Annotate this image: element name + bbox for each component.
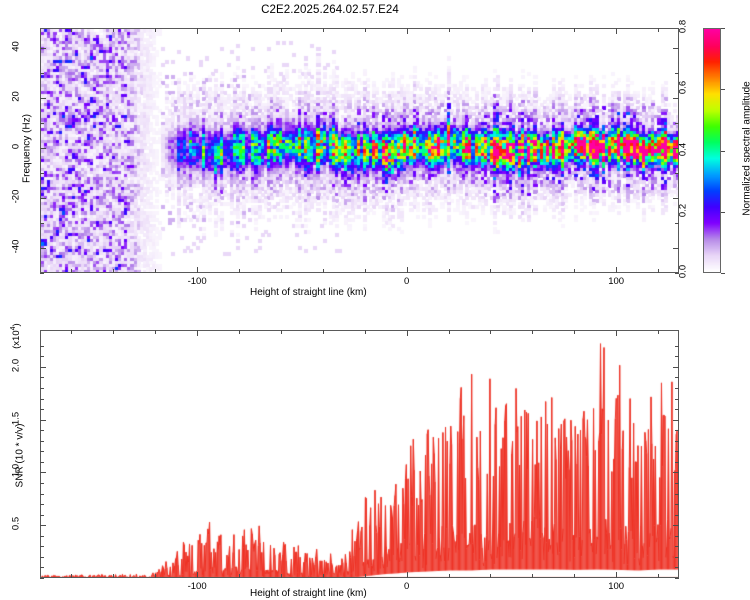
spectrogram-canvas — [41, 29, 679, 273]
axis-tick — [658, 574, 659, 578]
axis-tick — [40, 367, 46, 368]
axis-tick — [155, 269, 156, 273]
axis-tick — [281, 574, 282, 578]
spectrogram-ytick--20: -20 — [11, 177, 22, 217]
axis-tick — [323, 28, 324, 32]
axis-tick — [673, 48, 679, 49]
axis-tick — [71, 28, 72, 32]
axis-tick — [407, 330, 408, 336]
axis-tick — [532, 574, 533, 578]
axis-tick — [673, 420, 679, 421]
colorbar-tick-0.0: 0.0 — [678, 252, 689, 292]
axis-tick — [40, 451, 44, 452]
axis-tick — [675, 346, 679, 347]
snr-xaxis-label: Height of straight line (km) — [250, 588, 367, 599]
axis-tick — [40, 48, 46, 49]
axis-tick — [40, 409, 44, 410]
axis-tick — [113, 574, 114, 578]
axis-tick — [40, 483, 44, 484]
axis-tick — [323, 330, 324, 334]
axis-tick — [40, 148, 46, 149]
axis-tick — [490, 574, 491, 578]
axis-tick — [40, 494, 44, 495]
snr-xtick-0: 0 — [387, 581, 427, 592]
axis-tick — [40, 377, 44, 378]
axis-tick — [574, 28, 575, 32]
axis-tick — [675, 399, 679, 400]
axis-tick — [40, 98, 46, 99]
axis-tick — [40, 430, 44, 431]
spectrogram-xtick-0: 0 — [387, 276, 427, 287]
axis-tick — [407, 28, 408, 34]
axis-tick — [365, 269, 366, 273]
axis-tick — [673, 472, 679, 473]
snr-xtick--100: -100 — [177, 581, 217, 592]
axis-tick — [675, 462, 679, 463]
axis-tick — [675, 173, 679, 174]
colorbar-strip — [703, 28, 721, 273]
colorbar-tick — [721, 151, 725, 152]
spectrogram-ytick--40: -40 — [11, 227, 22, 267]
axis-tick — [113, 330, 114, 334]
axis-tick — [675, 123, 679, 124]
axis-tick — [675, 504, 679, 505]
figure-title: C2E2.2025.264.02.57.E24 — [0, 4, 660, 16]
colorbar-tick — [721, 89, 725, 90]
axis-tick — [197, 330, 198, 336]
axis-tick — [449, 330, 450, 334]
axis-tick — [197, 572, 198, 578]
axis-tick — [40, 578, 44, 579]
axis-tick — [40, 356, 44, 357]
axis-tick — [40, 346, 44, 347]
axis-tick — [239, 330, 240, 334]
axis-tick — [281, 28, 282, 32]
axis-tick — [658, 28, 659, 32]
axis-tick — [40, 441, 44, 442]
axis-tick — [658, 269, 659, 273]
axis-tick — [197, 28, 198, 34]
axis-tick — [675, 451, 679, 452]
axis-tick — [365, 28, 366, 32]
spectrogram-plot-area — [40, 28, 679, 273]
colorbar-tick-0.2: 0.2 — [678, 190, 689, 230]
axis-tick — [40, 223, 44, 224]
axis-tick — [239, 28, 240, 32]
axis-tick — [71, 330, 72, 334]
axis-tick — [675, 356, 679, 357]
axis-tick — [675, 430, 679, 431]
axis-tick — [616, 28, 617, 34]
figure-root: C2E2.2025.264.02.57.E24 -100010040200-20… — [0, 0, 750, 600]
axis-tick — [40, 525, 46, 526]
axis-tick — [40, 273, 44, 274]
axis-tick — [675, 536, 679, 537]
colorbar-tick-0.8: 0.8 — [678, 7, 689, 47]
axis-tick — [40, 73, 44, 74]
axis-tick — [673, 525, 679, 526]
axis-tick — [449, 574, 450, 578]
axis-tick — [365, 330, 366, 334]
axis-tick — [673, 248, 679, 249]
axis-tick — [40, 557, 44, 558]
snr-canvas — [41, 331, 679, 578]
axis-tick — [616, 572, 617, 578]
axis-tick — [197, 267, 198, 273]
axis-tick — [616, 330, 617, 336]
axis-tick — [675, 388, 679, 389]
axis-tick — [40, 173, 44, 174]
axis-tick — [490, 269, 491, 273]
colorbar-label: Normalized spectral amplitude — [742, 69, 750, 229]
axis-tick — [40, 536, 44, 537]
colorbar-tick — [721, 212, 725, 213]
axis-tick — [239, 269, 240, 273]
axis-tick — [155, 574, 156, 578]
axis-tick — [675, 483, 679, 484]
colorbar-tick — [721, 28, 725, 29]
axis-tick — [675, 567, 679, 568]
axis-tick — [40, 472, 46, 473]
axis-tick — [281, 330, 282, 334]
axis-tick — [239, 574, 240, 578]
axis-tick — [675, 515, 679, 516]
colorbar-tick — [721, 273, 725, 274]
axis-tick — [490, 330, 491, 334]
snr-xtick-100: 100 — [596, 581, 636, 592]
axis-tick — [532, 330, 533, 334]
spectrogram-ytick-20: 20 — [11, 77, 22, 117]
axis-tick — [675, 441, 679, 442]
axis-tick — [673, 367, 679, 368]
axis-tick — [658, 330, 659, 334]
axis-tick — [675, 546, 679, 547]
axis-tick — [71, 269, 72, 273]
axis-tick — [281, 269, 282, 273]
axis-tick — [323, 269, 324, 273]
axis-tick — [675, 494, 679, 495]
snr-exponent-label: (x104) — [10, 316, 22, 356]
snr-yaxis-label: SNR (10 * v/v) — [15, 401, 26, 511]
axis-tick — [113, 28, 114, 32]
axis-tick — [574, 574, 575, 578]
axis-tick — [40, 515, 44, 516]
axis-tick — [155, 28, 156, 32]
axis-tick — [574, 269, 575, 273]
axis-tick — [40, 198, 46, 199]
axis-tick — [40, 388, 44, 389]
axis-tick — [40, 567, 44, 568]
axis-tick — [616, 267, 617, 273]
axis-tick — [675, 557, 679, 558]
colorbar-tick-0.4: 0.4 — [678, 129, 689, 169]
axis-tick — [40, 399, 44, 400]
axis-tick — [407, 572, 408, 578]
axis-tick — [40, 420, 46, 421]
spectrogram-ytick-40: 40 — [11, 27, 22, 67]
spectrogram-xaxis-label: Height of straight line (km) — [250, 287, 367, 298]
axis-tick — [449, 28, 450, 32]
axis-tick — [574, 330, 575, 334]
axis-tick — [675, 578, 679, 579]
axis-tick — [323, 574, 324, 578]
axis-tick — [532, 269, 533, 273]
axis-tick — [675, 377, 679, 378]
spectrogram-yaxis-label: Frequency (Hz) — [22, 94, 33, 204]
axis-tick — [40, 546, 44, 547]
axis-tick — [365, 574, 366, 578]
axis-tick — [113, 269, 114, 273]
spectrogram-xtick-100: 100 — [596, 276, 636, 287]
axis-tick — [40, 462, 44, 463]
colorbar-tick-0.6: 0.6 — [678, 68, 689, 108]
axis-tick — [407, 267, 408, 273]
snr-plot-area — [40, 330, 679, 578]
axis-tick — [490, 28, 491, 32]
axis-tick — [40, 504, 44, 505]
axis-tick — [675, 409, 679, 410]
spectrogram-ytick-0: 0 — [11, 127, 22, 167]
axis-tick — [71, 574, 72, 578]
axis-tick — [40, 123, 44, 124]
spectrogram-xtick--100: -100 — [177, 276, 217, 287]
colorbar-wrap — [703, 28, 721, 273]
axis-tick — [449, 269, 450, 273]
axis-tick — [155, 330, 156, 334]
axis-tick — [40, 248, 46, 249]
axis-tick — [532, 28, 533, 32]
